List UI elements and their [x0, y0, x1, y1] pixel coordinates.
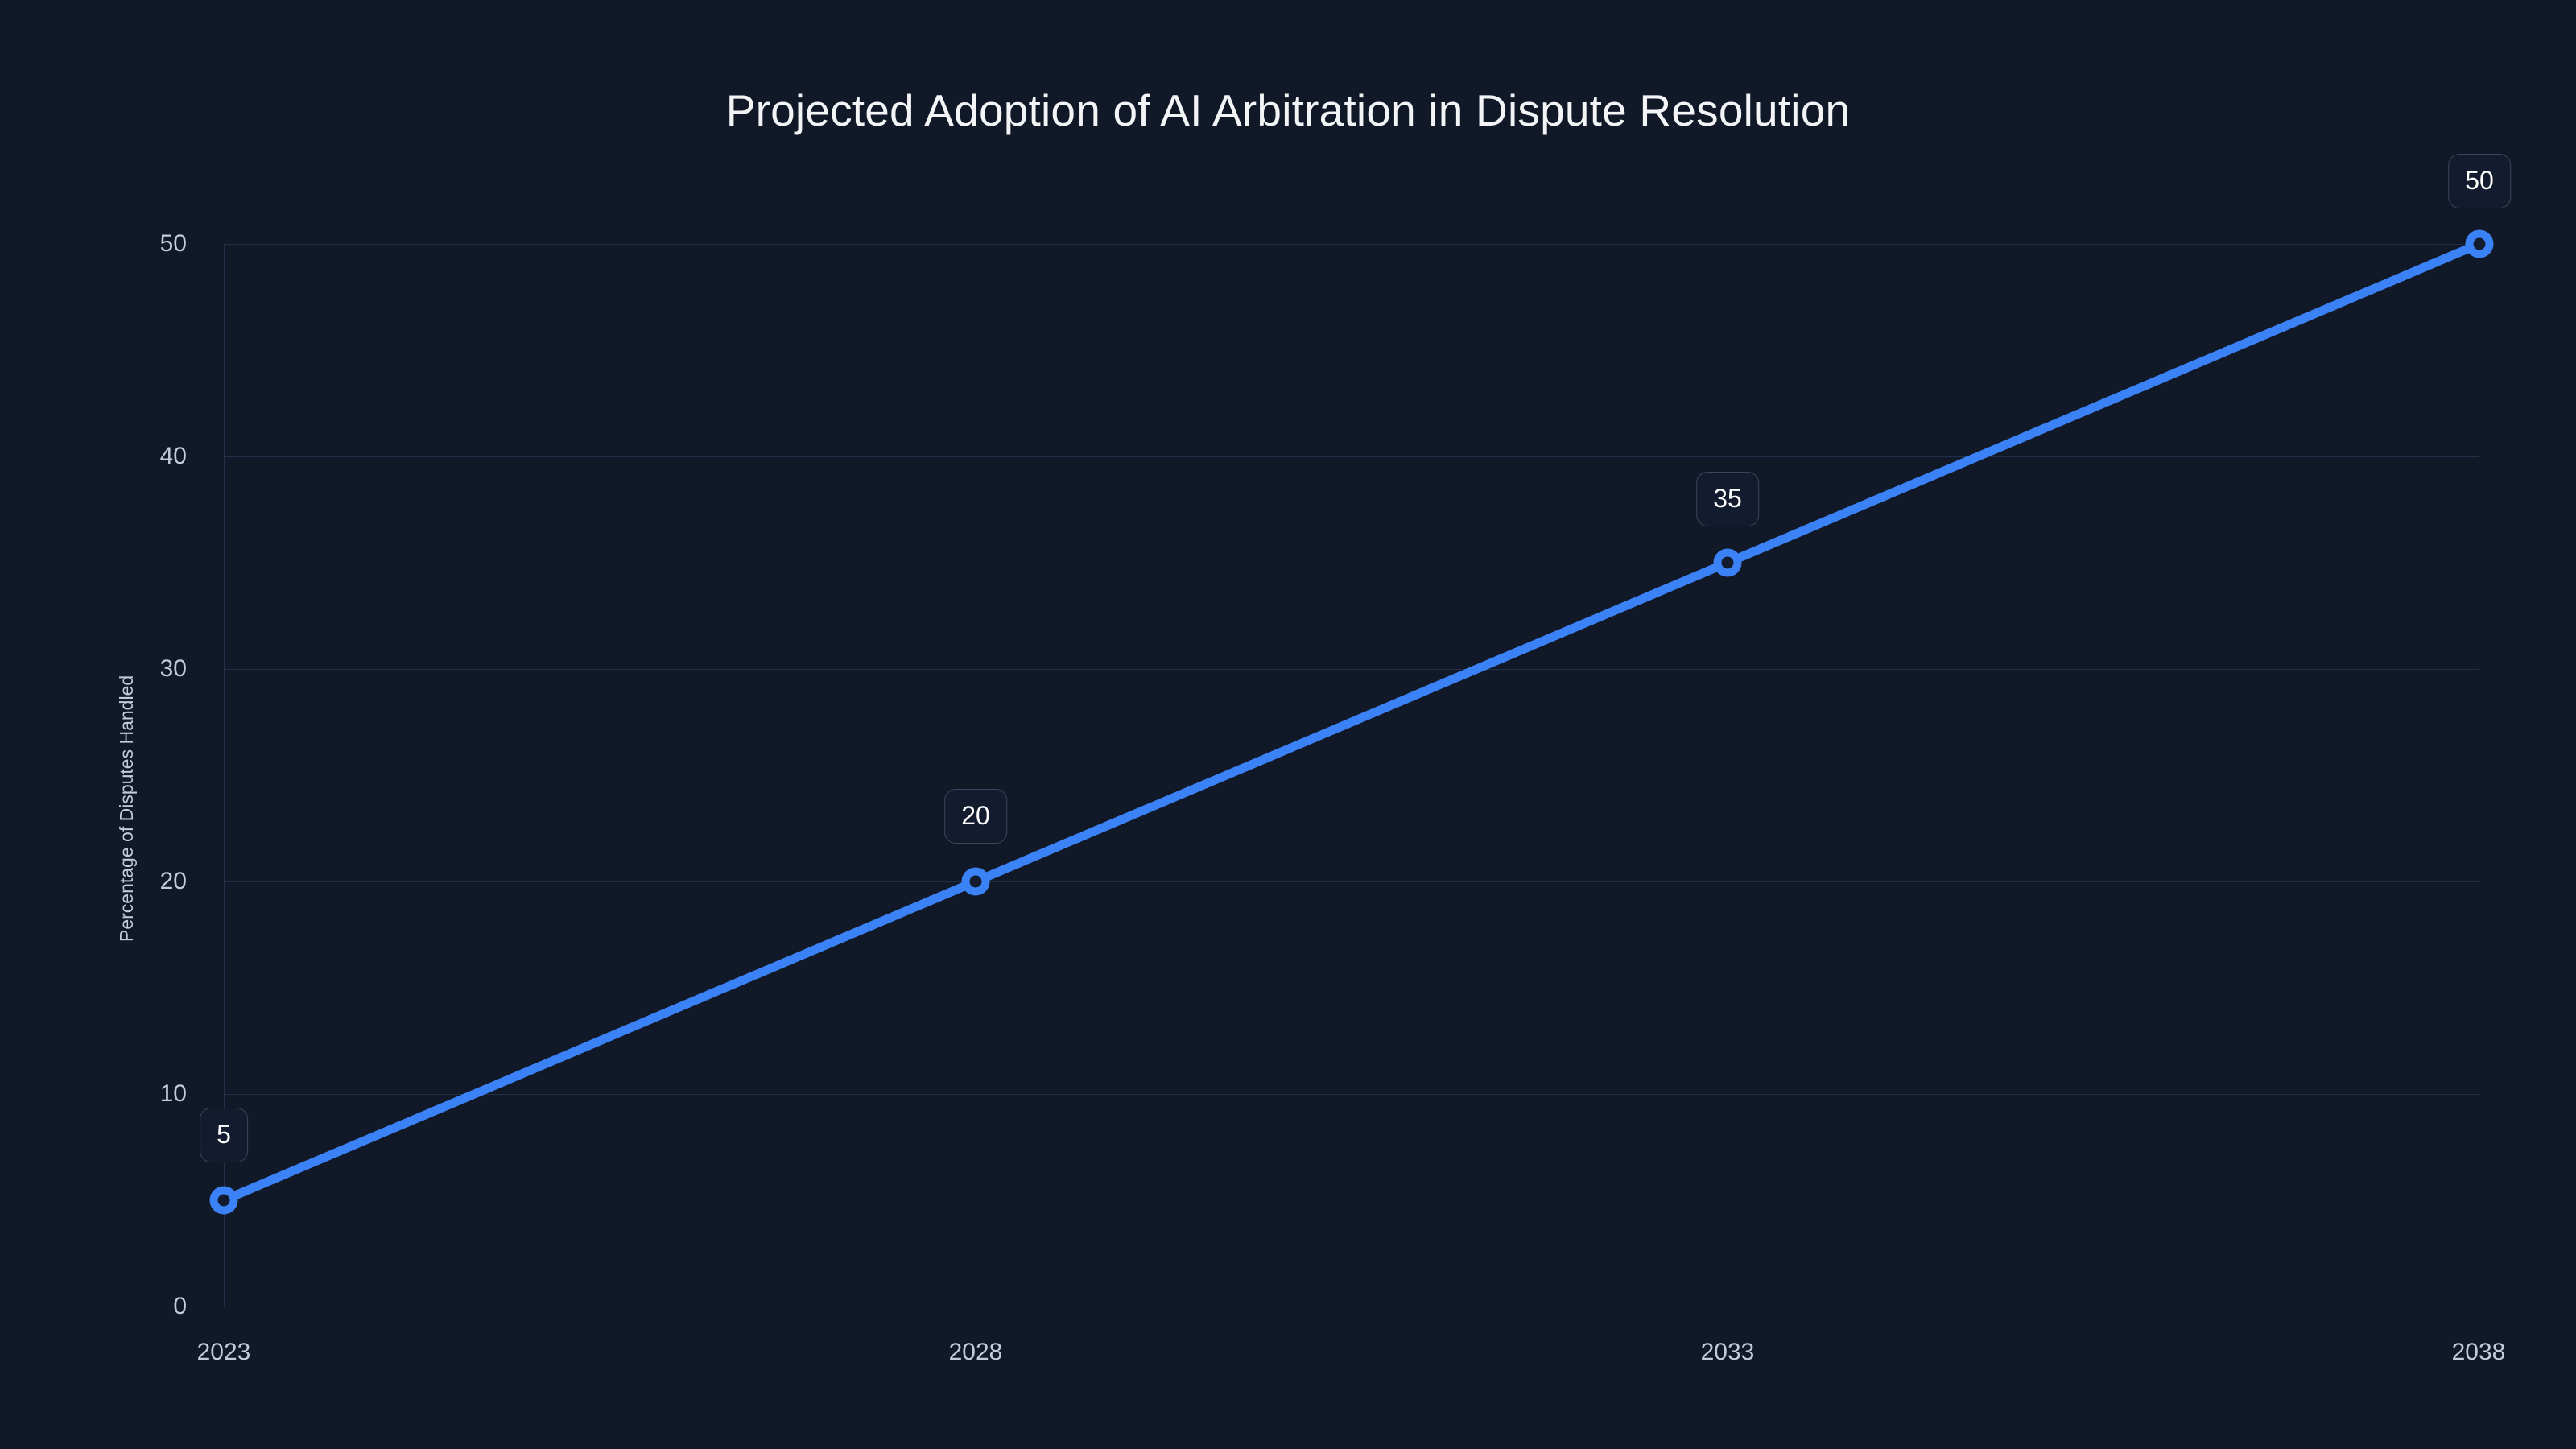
- data-label-badge-2033: 35: [1696, 472, 1759, 526]
- series-line: [224, 244, 2479, 1200]
- data-point-marker-2028[interactable]: [966, 872, 986, 892]
- data-point-marker-2038[interactable]: [2470, 234, 2490, 254]
- series-line-group: [0, 0, 2576, 1449]
- data-label-badge-2028: 20: [944, 789, 1007, 844]
- chart-canvas: Projected Adoption of AI Arbitration in …: [0, 0, 2576, 1449]
- data-point-marker-2033[interactable]: [1718, 553, 1738, 573]
- data-point-marker-2023[interactable]: [214, 1191, 234, 1211]
- data-label-badge-2023: 5: [200, 1108, 248, 1162]
- data-label-badge-2038: 50: [2448, 154, 2511, 208]
